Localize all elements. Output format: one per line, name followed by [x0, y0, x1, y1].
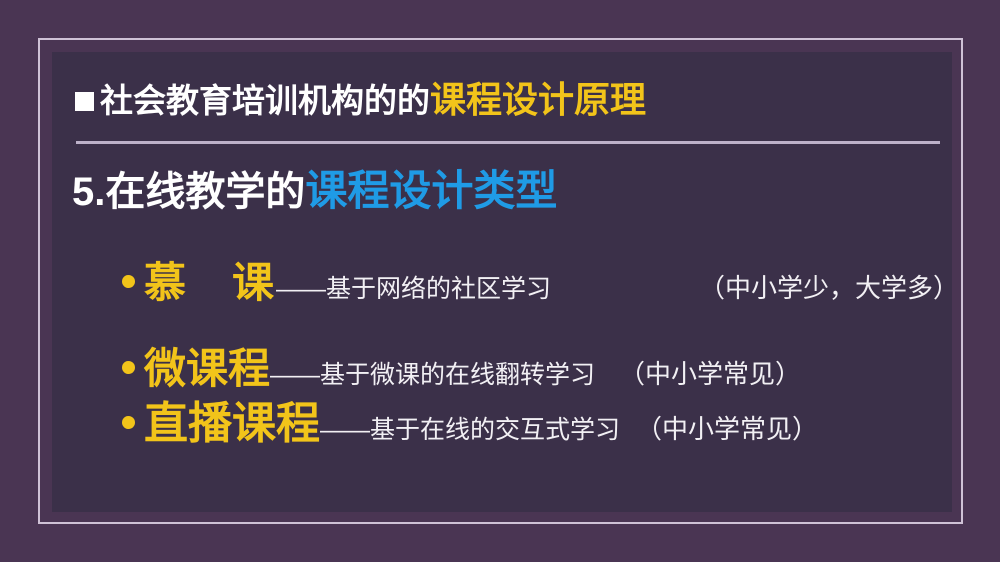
- list-item-description: ——基于在线的交互式学习: [320, 418, 620, 443]
- list-item: 慕 课 ——基于网络的社区学习 （中小学少，大学多）: [122, 262, 959, 304]
- title-divider: [76, 141, 940, 144]
- slide-canvas: 社会教育培训机构的的 课程设计原理 5.在线教学的 课程设计类型 慕 课 ——基…: [0, 0, 1000, 562]
- slide-content: 社会教育培训机构的的 课程设计原理 5.在线教学的 课程设计类型 慕 课 ——基…: [0, 0, 1000, 562]
- list-item-term: 直播课程: [144, 402, 320, 446]
- list-item-term: 微课程: [144, 348, 270, 390]
- list-item-note: （中小学少，大学多）: [699, 275, 959, 301]
- list-item-description: ——基于微课的在线翻转学习: [270, 363, 595, 388]
- section-subtitle: 5.在线教学的 课程设计类型: [72, 170, 557, 212]
- list-item-note: （中小学常见）: [636, 416, 818, 442]
- subtitle-plain: 5.在线教学的: [72, 172, 305, 212]
- subtitle-accent: 课程设计类型: [305, 170, 557, 212]
- list-item: 直播课程 ——基于在线的交互式学习 （中小学常见）: [122, 402, 818, 446]
- page-title: 社会教育培训机构的的 课程设计原理: [75, 82, 646, 118]
- dot-bullet-icon: [122, 361, 135, 374]
- dot-bullet-icon: [122, 416, 135, 429]
- list-item-description: ——基于网络的社区学习: [276, 277, 551, 302]
- square-bullet-icon: [75, 92, 94, 111]
- page-title-accent: 课程设计原理: [430, 82, 646, 118]
- list-item: 微课程 ——基于微课的在线翻转学习 （中小学常见）: [122, 348, 801, 390]
- list-item-term: 慕 课: [144, 262, 276, 304]
- dot-bullet-icon: [122, 275, 135, 288]
- list-item-note: （中小学常见）: [619, 361, 801, 387]
- page-title-plain: 社会教育培训机构的的: [100, 84, 430, 117]
